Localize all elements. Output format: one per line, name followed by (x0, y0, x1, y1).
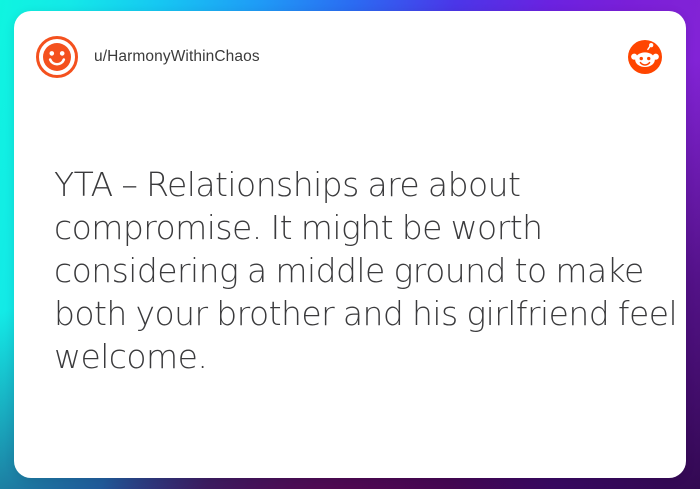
smiley-avatar-icon[interactable] (36, 36, 78, 78)
card-header: u/HarmonyWithinChaos (14, 11, 686, 103)
reddit-comment-card: u/HarmonyWithinChaos (14, 11, 686, 478)
card-body: YTA – Relationships are about compromise… (54, 163, 680, 378)
comment-text: YTA – Relationships are about compromise… (54, 163, 680, 378)
username-label: u/HarmonyWithinChaos (94, 49, 260, 65)
screenshot-root: u/HarmonyWithinChaos (0, 0, 700, 489)
reddit-snoo-icon[interactable] (628, 40, 662, 74)
